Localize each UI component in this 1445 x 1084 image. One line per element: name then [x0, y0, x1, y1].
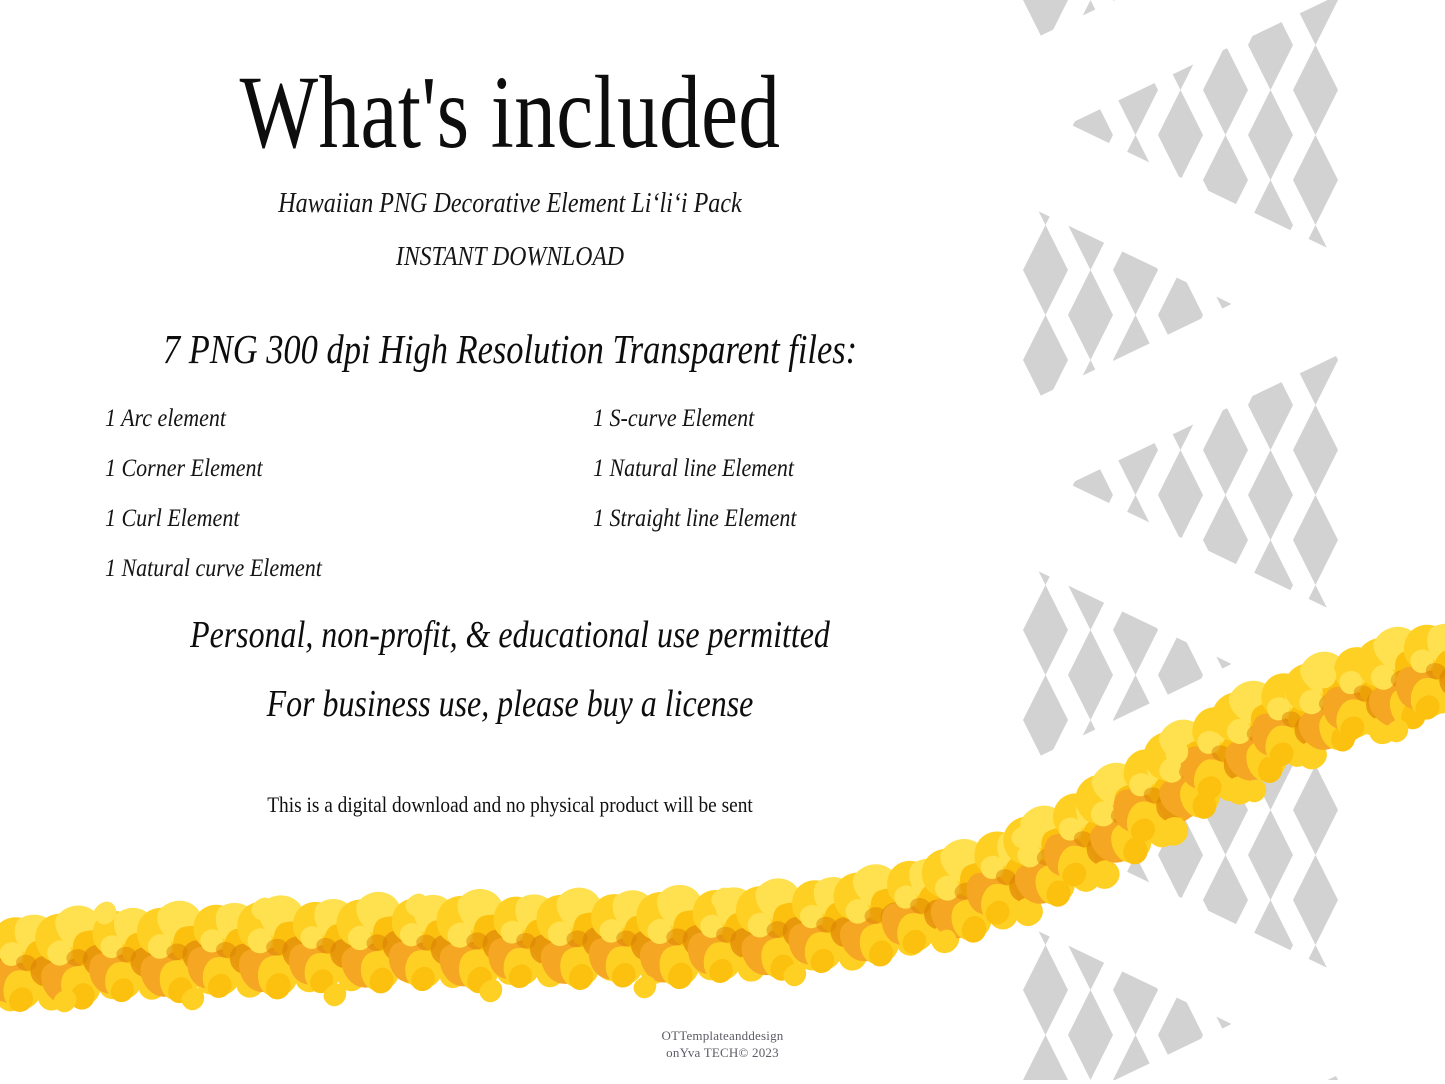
pattern-svg — [1023, 0, 1348, 1084]
list-item: 1 Corner Element — [105, 444, 475, 494]
file-column-right: 1 S-curve Element 1 Natural line Element… — [593, 394, 1013, 544]
contents-heading: 7 PNG 300 dpi High Resolution Transparen… — [82, 325, 939, 373]
digital-download-disclaimer: This is a digital download and no physic… — [61, 792, 959, 818]
footer-copyright: onYva TECH© 2023 — [0, 1044, 1445, 1061]
hawaiian-triangle-chevron-pattern — [1023, 0, 1348, 1084]
footer-brand: OTTemplateanddesign — [0, 1027, 1445, 1044]
list-item: 1 Straight line Element — [593, 494, 963, 544]
poster-text-block: What's included Hawaiian PNG Decorative … — [0, 0, 1020, 1084]
license-permitted-use: Personal, non-profit, & educational use … — [82, 613, 939, 657]
included-files-list: 1 Arc element 1 Corner Element 1 Curl El… — [105, 394, 985, 594]
page-title: What's included — [102, 58, 918, 167]
list-item: 1 Natural curve Element — [105, 544, 475, 594]
list-item: 1 Curl Element — [105, 494, 475, 544]
instant-download-note: INSTANT DOWNLOAD — [61, 241, 959, 272]
file-column-left: 1 Arc element 1 Corner Element 1 Curl El… — [105, 394, 525, 594]
license-business-use: For business use, please buy a license — [82, 682, 939, 726]
product-subtitle: Hawaiian PNG Decorative Element Liʻliʻi … — [71, 188, 948, 220]
footer-credit: OTTemplateanddesign onYva TECH© 2023 — [0, 1027, 1445, 1061]
list-item: 1 Arc element — [105, 394, 475, 444]
list-item: 1 S-curve Element — [593, 394, 963, 444]
list-item: 1 Natural line Element — [593, 444, 963, 494]
poster-canvas: What's included Hawaiian PNG Decorative … — [0, 0, 1445, 1084]
